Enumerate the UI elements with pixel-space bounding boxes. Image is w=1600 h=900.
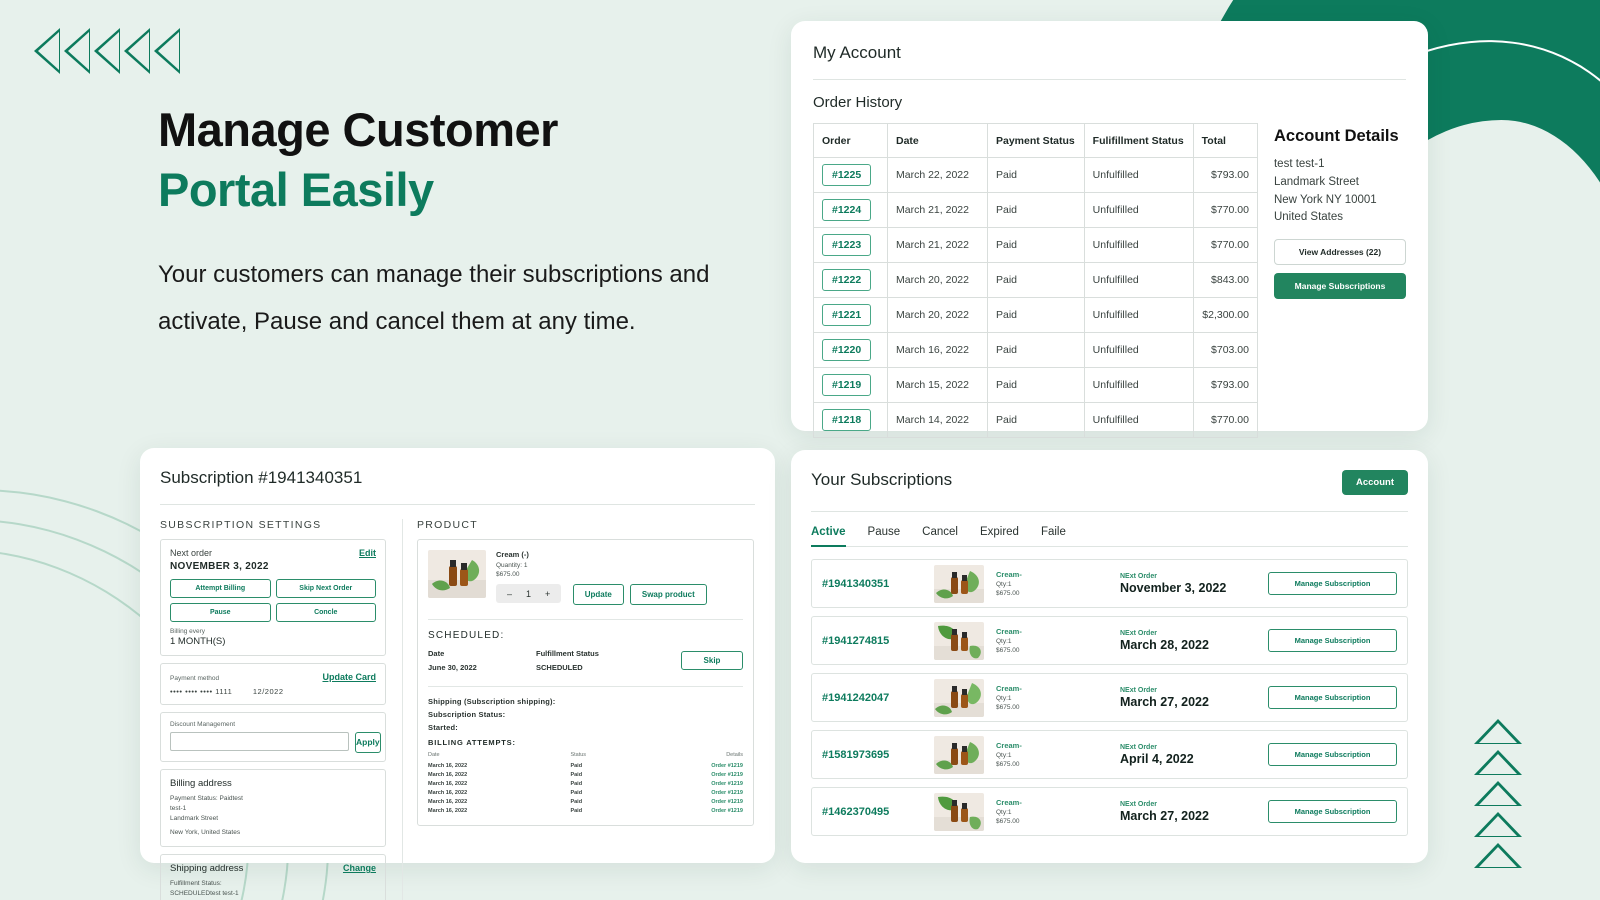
billing-every-label: Billing every bbox=[170, 628, 376, 635]
swap-product-button[interactable]: Swap product bbox=[630, 584, 707, 605]
ba-col-status: Status bbox=[570, 752, 627, 761]
ba-col-date: Date bbox=[428, 752, 570, 761]
subscription-id-link[interactable]: #1462370495 bbox=[822, 806, 934, 818]
subscription-product-name: Cream- bbox=[996, 627, 1120, 636]
total-cell: $2,300.00 bbox=[1193, 298, 1257, 333]
tab-cancel[interactable]: Cancel bbox=[922, 526, 958, 547]
order-cell: #1222 bbox=[814, 263, 888, 298]
subscription-product-info: Cream-Qty:1$675.00 bbox=[996, 741, 1120, 768]
payment-method-label: Payment method bbox=[170, 675, 219, 682]
triangle-left-icon bbox=[64, 28, 90, 74]
account-details-panel: Account Details test test-1 Landmark Str… bbox=[1274, 123, 1406, 438]
ba-date: March 16, 2022 bbox=[428, 770, 570, 779]
triangle-left-icon bbox=[94, 28, 120, 74]
fulfillment-status-cell: Unfulfilled bbox=[1084, 333, 1193, 368]
payment-status-cell: Paid bbox=[988, 193, 1085, 228]
subscription-row: #1462370495Cream-Qty:1$675.00NExt OrderM… bbox=[811, 787, 1408, 836]
subscription-product-name: Cream- bbox=[996, 741, 1120, 750]
fulfillment-status-cell: Unfulfilled bbox=[1084, 158, 1193, 193]
payment-status-cell: Paid bbox=[988, 228, 1085, 263]
billing-address-line: Landmark Street bbox=[170, 814, 376, 824]
date-cell: March 14, 2022 bbox=[888, 403, 988, 438]
fulfillment-status-cell: Unfulfilled bbox=[1084, 298, 1193, 333]
billing-address-box: Billing address Payment Status: Paidtest… bbox=[160, 769, 386, 847]
discount-management-box: Discount Management Apply bbox=[160, 712, 386, 762]
subscription-product-name: Cream- bbox=[996, 570, 1120, 579]
subscription-product-qty: Qty:1 bbox=[996, 695, 1120, 702]
manage-subscription-button[interactable]: Manage Subscription bbox=[1268, 629, 1397, 652]
payment-status-cell: Paid bbox=[988, 333, 1085, 368]
hero-body: Your customers can manage their subscrip… bbox=[158, 252, 758, 346]
subscription-product-qty: Qty:1 bbox=[996, 752, 1120, 759]
ba-date: March 16, 2022 bbox=[428, 761, 570, 770]
next-order-label: NExt Order bbox=[1120, 687, 1268, 694]
subscription-row: #1941340351Cream-Qty:1$675.00NExt OrderN… bbox=[811, 559, 1408, 608]
order-cell: #1221 bbox=[814, 298, 888, 333]
billing-address-heading: Billing address bbox=[170, 778, 376, 789]
manage-subscriptions-button[interactable]: Manage Subscriptions bbox=[1274, 273, 1406, 299]
next-order-label: Next order bbox=[170, 548, 212, 558]
billing-attempts-table: Date Status Details March 16, 2022PaidOr… bbox=[428, 752, 743, 815]
triangle-up-icon bbox=[1474, 843, 1522, 868]
ba-date: March 16, 2022 bbox=[428, 788, 570, 797]
total-cell: $770.00 bbox=[1193, 228, 1257, 263]
ba-status: Paid bbox=[570, 797, 627, 806]
ba-details-link[interactable]: Order #1219 bbox=[627, 761, 743, 770]
tab-active[interactable]: Active bbox=[811, 526, 846, 547]
subscription-product-name: Cream- bbox=[996, 798, 1120, 807]
tab-pause[interactable]: Pause bbox=[868, 526, 901, 547]
ba-status: Paid bbox=[570, 788, 627, 797]
subscription-product-qty: Qty:1 bbox=[996, 809, 1120, 816]
ba-details-link[interactable]: Order #1219 bbox=[627, 770, 743, 779]
order-chip-button[interactable]: #1225 bbox=[822, 164, 871, 186]
date-cell: March 21, 2022 bbox=[888, 193, 988, 228]
scheduled-col-status: Fulfillment Status bbox=[536, 649, 681, 658]
discount-code-input[interactable] bbox=[170, 732, 349, 751]
ba-details-link[interactable]: Order #1219 bbox=[627, 797, 743, 806]
ba-date: March 16, 2022 bbox=[428, 806, 570, 815]
order-history-heading: Order History bbox=[813, 94, 1406, 111]
subscription-product-price: $675.00 bbox=[996, 704, 1120, 711]
subscription-next-order: NExt OrderApril 4, 2022 bbox=[1120, 744, 1268, 766]
table-row: #1221March 20, 2022PaidUnfulfilled$2,300… bbox=[814, 298, 1258, 333]
subscription-title: Subscription #1941340351 bbox=[160, 468, 755, 488]
ba-details-link[interactable]: Order #1219 bbox=[627, 779, 743, 788]
date-cell: March 20, 2022 bbox=[888, 263, 988, 298]
table-row: March 16, 2022PaidOrder #1219 bbox=[428, 779, 743, 788]
total-cell: $770.00 bbox=[1193, 193, 1257, 228]
divider bbox=[811, 546, 1408, 547]
triangle-up-icon bbox=[1474, 719, 1522, 744]
subscription-product-info: Cream-Qty:1$675.00 bbox=[996, 627, 1120, 654]
next-order-label: NExt Order bbox=[1120, 630, 1268, 637]
total-cell: $843.00 bbox=[1193, 263, 1257, 298]
your-subscriptions-card: Your Subscriptions Account ActivePauseCa… bbox=[791, 450, 1428, 863]
subscription-product-qty: Qty:1 bbox=[996, 581, 1120, 588]
product-box: Cream (-) Quantity: 1 $675.00 – 1 + bbox=[417, 539, 754, 826]
fulfillment-status-cell: Unfulfilled bbox=[1084, 263, 1193, 298]
next-order-actions: Attempt Billing Skip Next Order Pause Co… bbox=[170, 579, 376, 622]
table-row: #1223March 21, 2022PaidUnfulfilled$770.0… bbox=[814, 228, 1258, 263]
update-card-link[interactable]: Update Card bbox=[322, 672, 376, 682]
table-header-row: Date Status Details bbox=[428, 752, 743, 761]
table-row: March 16, 2022PaidOrder #1219 bbox=[428, 788, 743, 797]
fulfillment-status-cell: Unfulfilled bbox=[1084, 193, 1193, 228]
pause-button[interactable]: Pause bbox=[170, 603, 271, 622]
subscription-settings-label: SUBSCRIPTION SETTINGS bbox=[160, 519, 386, 531]
fulfillment-status-cell: Unfulfilled bbox=[1084, 368, 1193, 403]
divider bbox=[813, 79, 1406, 80]
shipping-address-heading: Shipping address bbox=[170, 863, 243, 874]
triangle-left-decoration-group bbox=[34, 28, 180, 74]
divider bbox=[160, 504, 755, 505]
order-chip-button[interactable]: #1224 bbox=[822, 199, 871, 221]
triangle-up-icon bbox=[1474, 812, 1522, 837]
next-order-date: November 3, 2022 bbox=[1120, 581, 1268, 595]
skip-next-order-button[interactable]: Skip Next Order bbox=[276, 579, 377, 598]
hero-section: Manage Customer Portal Easily Your custo… bbox=[158, 100, 758, 346]
account-country: United States bbox=[1274, 209, 1406, 227]
shipping-address-box: Shipping address Change Fulfillment Stat… bbox=[160, 854, 386, 900]
quantity-increase-button[interactable]: + bbox=[538, 589, 557, 599]
date-cell: March 21, 2022 bbox=[888, 228, 988, 263]
manage-subscription-button[interactable]: Manage Subscription bbox=[1268, 686, 1397, 709]
table-row: #1222March 20, 2022PaidUnfulfilled$843.0… bbox=[814, 263, 1258, 298]
total-cell: $703.00 bbox=[1193, 333, 1257, 368]
order-history-table: Order Date Payment Status Fulifillment S… bbox=[813, 123, 1258, 438]
subscription-detail-card: Subscription #1941340351 SUBSCRIPTION SE… bbox=[140, 448, 775, 863]
change-shipping-address-link[interactable]: Change bbox=[343, 863, 376, 873]
total-cell: $793.00 bbox=[1193, 158, 1257, 193]
your-subscriptions-title: Your Subscriptions bbox=[811, 470, 952, 490]
fulfillment-status-cell: Unfulfilled bbox=[1084, 228, 1193, 263]
quantity-decrease-button[interactable]: – bbox=[500, 589, 519, 599]
subscription-next-order: NExt OrderMarch 27, 2022 bbox=[1120, 687, 1268, 709]
edit-next-order-link[interactable]: Edit bbox=[359, 548, 376, 558]
shipping-address-line: SCHEDULEDtest test-1 bbox=[170, 889, 376, 899]
shipping-address-line: Fulfillment Status: bbox=[170, 879, 376, 889]
product-quantity: Quantity: 1 bbox=[496, 562, 707, 569]
skip-scheduled-button[interactable]: Skip bbox=[681, 651, 743, 670]
product-thumbnail bbox=[934, 736, 984, 774]
payment-status-cell: Paid bbox=[988, 263, 1085, 298]
discount-management-label: Discount Management bbox=[170, 721, 376, 728]
billing-every-value: 1 MONTH(S) bbox=[170, 636, 376, 647]
tab-expired[interactable]: Expired bbox=[980, 526, 1019, 547]
next-order-date: March 27, 2022 bbox=[1120, 809, 1268, 823]
divider bbox=[428, 686, 743, 687]
triangle-left-icon bbox=[154, 28, 180, 74]
payment-method-box: Payment method Update Card •••• •••• •••… bbox=[160, 663, 386, 705]
subscription-product-qty: Qty:1 bbox=[996, 638, 1120, 645]
divider bbox=[811, 511, 1408, 512]
order-chip-button[interactable]: #1223 bbox=[822, 234, 871, 256]
ba-status: Paid bbox=[570, 761, 627, 770]
subscription-row: #1941274815Cream-Qty:1$675.00NExt OrderM… bbox=[811, 616, 1408, 665]
column-header-fulfillment-status: Fulifillment Status bbox=[1084, 124, 1193, 158]
product-thumbnail bbox=[934, 793, 984, 831]
billing-attempts-heading: BILLING ATTEMPTS: bbox=[428, 738, 743, 747]
total-cell: $770.00 bbox=[1193, 403, 1257, 438]
apply-discount-button[interactable]: Apply bbox=[355, 732, 381, 753]
subscription-status-meta: Subscription Status: bbox=[428, 710, 743, 719]
triangle-up-icon bbox=[1474, 750, 1522, 775]
next-order-label: NExt Order bbox=[1120, 573, 1268, 580]
subscription-row: #1941242047Cream-Qty:1$675.00NExt OrderM… bbox=[811, 673, 1408, 722]
started-meta: Started: bbox=[428, 723, 743, 732]
manage-subscription-button[interactable]: Manage Subscription bbox=[1268, 800, 1397, 823]
ba-details-link[interactable]: Order #1219 bbox=[627, 788, 743, 797]
triangle-left-icon bbox=[124, 28, 150, 74]
scheduled-heading: SCHEDULED: bbox=[428, 630, 743, 641]
shipping-meta: Shipping (Subscription shipping): bbox=[428, 697, 743, 706]
card-number-line: •••• •••• •••• 1111 12/2022 bbox=[170, 687, 376, 696]
attempt-billing-button[interactable]: Attempt Billing bbox=[170, 579, 271, 598]
table-row: #1219March 15, 2022PaidUnfulfilled$793.0… bbox=[814, 368, 1258, 403]
divider bbox=[428, 619, 743, 620]
scheduled-col-date: Date bbox=[428, 649, 536, 658]
subscription-product-info: Cream-Qty:1$675.00 bbox=[996, 798, 1120, 825]
subscription-next-order: NExt OrderMarch 27, 2022 bbox=[1120, 801, 1268, 823]
triangle-left-icon bbox=[34, 28, 60, 74]
my-account-title: My Account bbox=[813, 43, 1406, 63]
product-thumbnail bbox=[934, 679, 984, 717]
manage-subscription-button[interactable]: Manage Subscription bbox=[1268, 572, 1397, 595]
quantity-stepper[interactable]: – 1 + bbox=[496, 584, 561, 603]
product-thumbnail bbox=[934, 565, 984, 603]
card-expiry: 12/2022 bbox=[253, 687, 284, 696]
product-thumbnail bbox=[934, 622, 984, 660]
table-row: #1225March 22, 2022PaidUnfulfilled$793.0… bbox=[814, 158, 1258, 193]
ba-col-details: Details bbox=[627, 752, 743, 761]
next-order-date: March 28, 2022 bbox=[1120, 638, 1268, 652]
subscription-id-link[interactable]: #1581973695 bbox=[822, 749, 934, 761]
hero-title: Manage Customer Portal Easily bbox=[158, 100, 758, 220]
page-root: Manage Customer Portal Easily Your custo… bbox=[0, 0, 1600, 900]
subscription-row: #1581973695Cream-Qty:1$675.00NExt OrderA… bbox=[811, 730, 1408, 779]
ba-date: March 16, 2022 bbox=[428, 797, 570, 806]
product-thumbnail bbox=[428, 550, 486, 598]
column-header-date: Date bbox=[888, 124, 988, 158]
subscription-list: #1941340351Cream-Qty:1$675.00NExt OrderN… bbox=[811, 559, 1408, 836]
subscription-product-price: $675.00 bbox=[996, 761, 1120, 768]
update-product-button[interactable]: Update bbox=[573, 584, 624, 605]
product-name: Cream (-) bbox=[496, 550, 707, 559]
hero-title-line1: Manage Customer bbox=[158, 103, 558, 156]
payment-status-cell: Paid bbox=[988, 368, 1085, 403]
column-header-order: Order bbox=[814, 124, 888, 158]
fulfillment-status-cell: Unfulfilled bbox=[1084, 403, 1193, 438]
order-chip-button[interactable]: #1220 bbox=[822, 339, 871, 361]
triangle-up-decoration-group bbox=[1474, 719, 1522, 868]
ba-details-link[interactable]: Order #1219 bbox=[627, 806, 743, 815]
next-order-label: NExt Order bbox=[1120, 744, 1268, 751]
account-details-heading: Account Details bbox=[1274, 127, 1406, 146]
product-price: $675.00 bbox=[496, 571, 707, 578]
ba-date: March 16, 2022 bbox=[428, 779, 570, 788]
column-header-payment-status: Payment Status bbox=[988, 124, 1085, 158]
subscription-product-name: Cream- bbox=[996, 684, 1120, 693]
product-column: PRODUCT bbox=[402, 519, 754, 900]
quantity-value: 1 bbox=[519, 589, 538, 599]
table-row: March 16, 2022PaidOrder #1219 bbox=[428, 761, 743, 770]
subscription-id-link[interactable]: #1941274815 bbox=[822, 635, 934, 647]
subscription-product-info: Cream-Qty:1$675.00 bbox=[996, 570, 1120, 597]
next-order-date: March 27, 2022 bbox=[1120, 695, 1268, 709]
order-chip-button[interactable]: #1219 bbox=[822, 374, 871, 396]
account-button[interactable]: Account bbox=[1342, 470, 1408, 495]
order-chip-button[interactable]: #1218 bbox=[822, 409, 871, 431]
payment-status-cell: Paid bbox=[988, 403, 1085, 438]
cancel-button[interactable]: Concle bbox=[276, 603, 377, 622]
table-row: #1218March 14, 2022PaidUnfulfilled$770.0… bbox=[814, 403, 1258, 438]
my-account-card: My Account Order History Order Date Paym… bbox=[791, 21, 1428, 431]
scheduled-status: SCHEDULED bbox=[536, 663, 681, 672]
next-order-date: NOVEMBER 3, 2022 bbox=[170, 561, 376, 572]
next-order-box: Next order Edit NOVEMBER 3, 2022 Attempt… bbox=[160, 539, 386, 656]
account-street: Landmark Street bbox=[1274, 174, 1406, 192]
ba-status: Paid bbox=[570, 770, 627, 779]
ba-status: Paid bbox=[570, 806, 627, 815]
card-number: •••• •••• •••• 1111 bbox=[170, 687, 232, 696]
order-cell: #1219 bbox=[814, 368, 888, 403]
table-row: #1224March 21, 2022PaidUnfulfilled$770.0… bbox=[814, 193, 1258, 228]
table-row: March 16, 2022PaidOrder #1219 bbox=[428, 770, 743, 779]
date-cell: March 20, 2022 bbox=[888, 298, 988, 333]
product-label: PRODUCT bbox=[417, 519, 754, 531]
payment-status-cell: Paid bbox=[988, 158, 1085, 193]
date-cell: March 16, 2022 bbox=[888, 333, 988, 368]
table-header-row: Order Date Payment Status Fulifillment S… bbox=[814, 124, 1258, 158]
subscription-status-tabs: ActivePauseCancelExpiredFaile bbox=[811, 526, 1408, 547]
subscription-product-price: $675.00 bbox=[996, 647, 1120, 654]
subscription-product-price: $675.00 bbox=[996, 590, 1120, 597]
tab-faile[interactable]: Faile bbox=[1041, 526, 1066, 547]
subscription-product-info: Cream-Qty:1$675.00 bbox=[996, 684, 1120, 711]
table-row: March 16, 2022PaidOrder #1219 bbox=[428, 806, 743, 815]
table-row: #1220March 16, 2022PaidUnfulfilled$703.0… bbox=[814, 333, 1258, 368]
column-header-total: Total bbox=[1193, 124, 1257, 158]
billing-address-line: test-1 bbox=[170, 804, 376, 814]
subscription-next-order: NExt OrderNovember 3, 2022 bbox=[1120, 573, 1268, 595]
subscription-next-order: NExt OrderMarch 28, 2022 bbox=[1120, 630, 1268, 652]
manage-subscription-button[interactable]: Manage Subscription bbox=[1268, 743, 1397, 766]
triangle-up-icon bbox=[1474, 781, 1522, 806]
scheduled-date: June 30, 2022 bbox=[428, 663, 536, 672]
next-order-date: April 4, 2022 bbox=[1120, 752, 1268, 766]
order-cell: #1224 bbox=[814, 193, 888, 228]
order-chip-button[interactable]: #1221 bbox=[822, 304, 871, 326]
table-row: March 16, 2022PaidOrder #1219 bbox=[428, 797, 743, 806]
billing-address-footer: New York, United States bbox=[170, 828, 376, 838]
date-cell: March 15, 2022 bbox=[888, 368, 988, 403]
order-chip-button[interactable]: #1222 bbox=[822, 269, 871, 291]
hero-title-line2: Portal Easily bbox=[158, 163, 434, 216]
subscription-id-link[interactable]: #1941242047 bbox=[822, 692, 934, 704]
subscription-settings-column: SUBSCRIPTION SETTINGS Next order Edit NO… bbox=[160, 519, 386, 900]
order-cell: #1218 bbox=[814, 403, 888, 438]
subscription-id-link[interactable]: #1941340351 bbox=[822, 578, 934, 590]
date-cell: March 22, 2022 bbox=[888, 158, 988, 193]
next-order-label: NExt Order bbox=[1120, 801, 1268, 808]
billing-address-line: Payment Status: Paidtest bbox=[170, 794, 376, 804]
order-cell: #1220 bbox=[814, 333, 888, 368]
account-name: test test-1 bbox=[1274, 156, 1406, 174]
payment-status-cell: Paid bbox=[988, 298, 1085, 333]
account-city: New York NY 10001 bbox=[1274, 192, 1406, 210]
subscription-product-price: $675.00 bbox=[996, 818, 1120, 825]
ba-status: Paid bbox=[570, 779, 627, 788]
order-cell: #1225 bbox=[814, 158, 888, 193]
scheduled-table: Date Fulfillment Status Skip June 30, 20… bbox=[428, 649, 743, 672]
order-cell: #1223 bbox=[814, 228, 888, 263]
total-cell: $793.00 bbox=[1193, 368, 1257, 403]
view-addresses-button[interactable]: View Addresses (22) bbox=[1274, 239, 1406, 265]
